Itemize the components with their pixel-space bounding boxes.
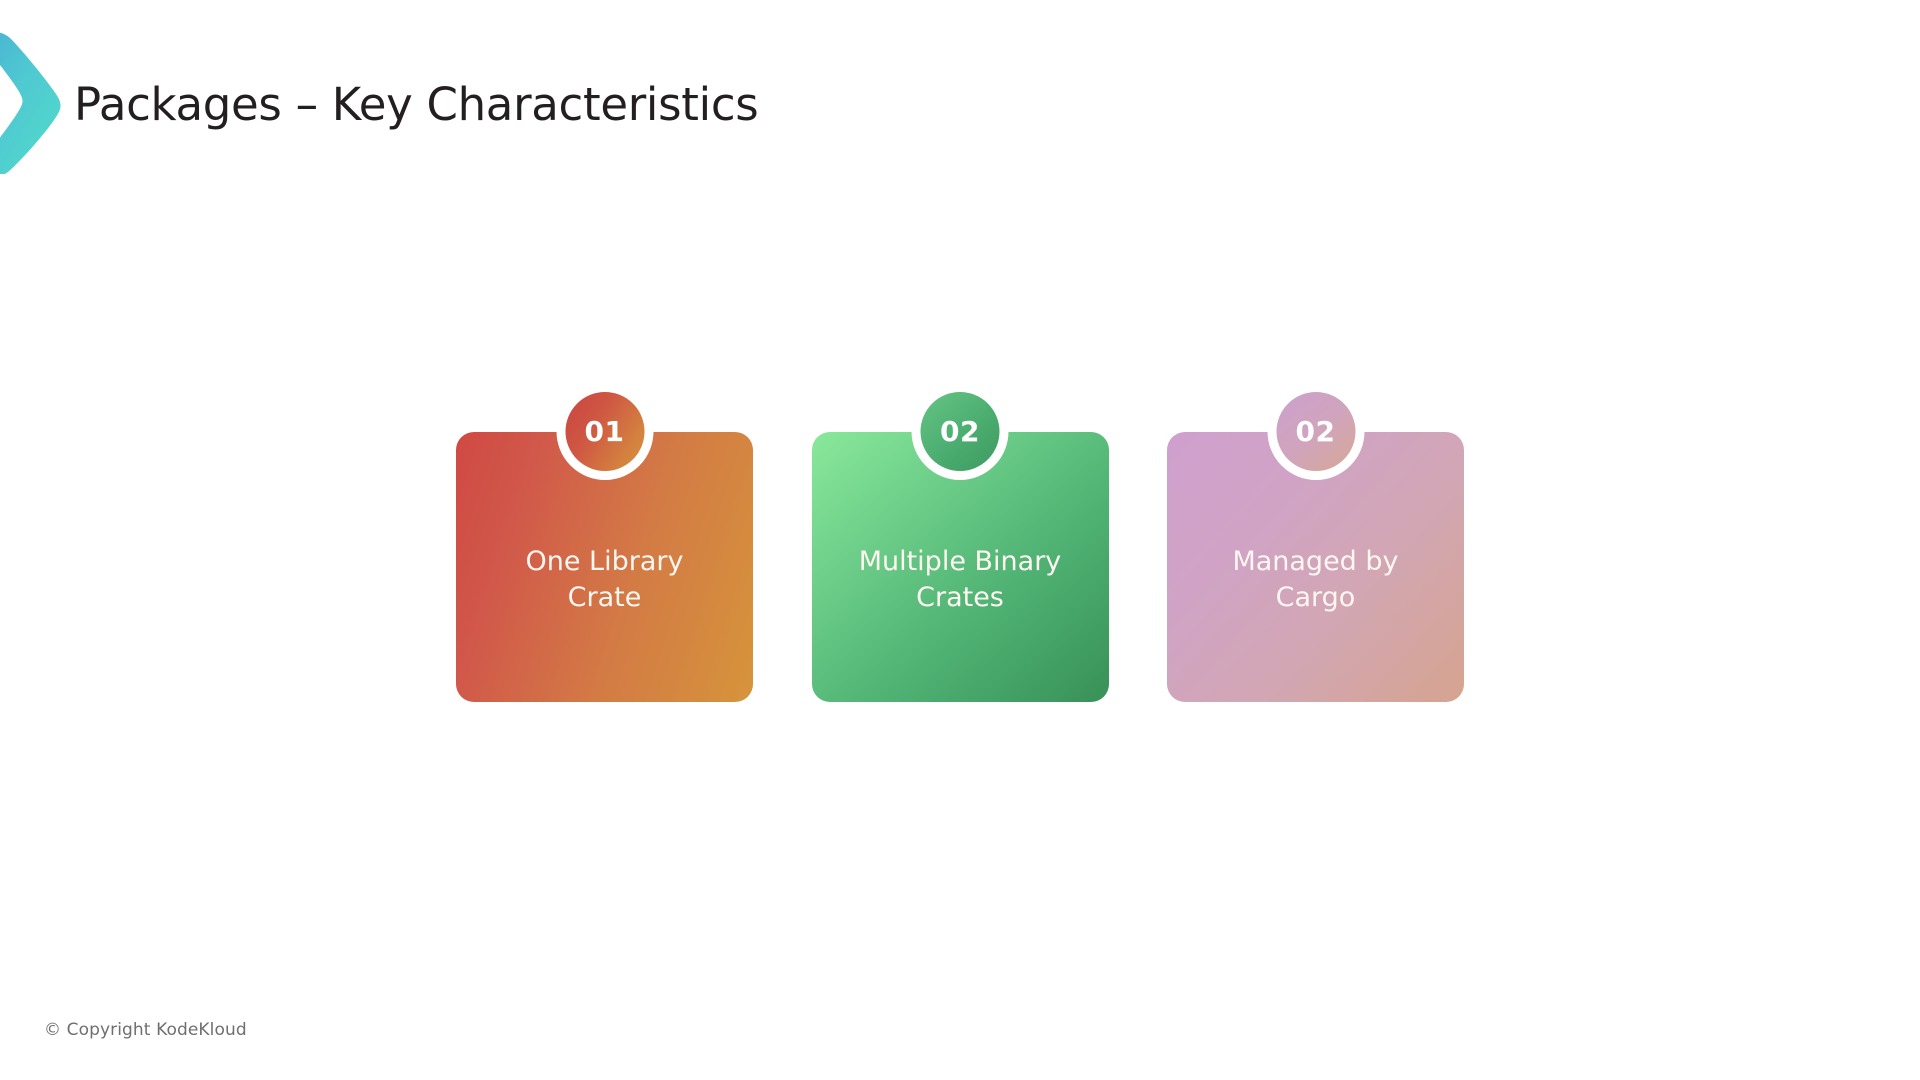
card-label-1: One Library Crate — [474, 544, 735, 615]
card-number-1: 01 — [585, 418, 625, 446]
card-number-3: 02 — [1296, 418, 1336, 446]
characteristic-card-3[interactable]: 02 Managed by Cargo — [1167, 432, 1464, 702]
card-number-badge-2: 02 — [912, 383, 1009, 480]
footer-copyright: © Copyright KodeKloud — [44, 1020, 247, 1040]
chevron-logo — [0, 26, 78, 174]
characteristics-card-row: 01 One Library Crate 02 Multiple Binary … — [456, 432, 1464, 704]
card-label-3: Managed by Cargo — [1185, 544, 1446, 615]
card-number-badge-3: 02 — [1267, 383, 1364, 480]
page-title: Packages – Key Characteristics — [74, 78, 758, 131]
card-number-badge-1: 01 — [556, 383, 653, 480]
card-number-2: 02 — [940, 418, 980, 446]
characteristic-card-2[interactable]: 02 Multiple Binary Crates — [812, 432, 1109, 702]
card-label-2: Multiple Binary Crates — [829, 544, 1090, 615]
characteristic-card-1[interactable]: 01 One Library Crate — [456, 432, 753, 702]
